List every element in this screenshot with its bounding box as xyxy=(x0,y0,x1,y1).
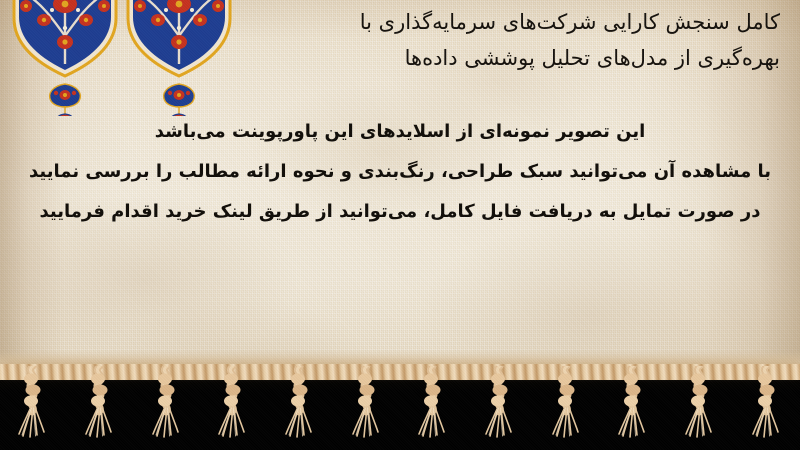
slide-canvas: کامل سنجش کارایی شرکت‌های سرمایه‌گذاری ب… xyxy=(0,0,800,450)
fringe-tassel xyxy=(544,366,590,438)
fringe-tassel xyxy=(277,366,323,438)
fringe-tassel xyxy=(410,366,456,438)
slide-body-line-3: در صورت تمایل به دریافت فایل کامل، می‌تو… xyxy=(0,192,800,232)
slide-title-line-2: بهره‌گیری از مدل‌های تحلیل پوششی داده‌ها xyxy=(260,40,780,76)
slide-title-line-1: کامل سنجش کارایی شرکت‌های سرمایه‌گذاری ب… xyxy=(260,4,780,40)
fringe-tassel xyxy=(477,366,523,438)
slide-body: این تصویر نمونه‌ای از اسلایدهای این پاور… xyxy=(0,112,800,232)
fringe-tassel xyxy=(210,366,256,438)
fringe-tassel xyxy=(677,366,723,438)
carpet-fringe-tassels xyxy=(0,350,800,450)
fringe-tassel xyxy=(77,366,123,438)
slide-title: کامل سنجش کارایی شرکت‌های سرمایه‌گذاری ب… xyxy=(260,4,780,76)
fringe-tassel xyxy=(610,366,656,438)
fringe-tassel xyxy=(744,366,790,438)
fringe-tassel xyxy=(344,366,390,438)
fringe-tassel xyxy=(10,366,56,438)
slide-body-line-1: این تصویر نمونه‌ای از اسلایدهای این پاور… xyxy=(0,112,800,152)
slide-body-line-2: با مشاهده آن می‌توانید سبک طراحی، رنگ‌بن… xyxy=(0,152,800,192)
fringe-tassel xyxy=(144,366,190,438)
